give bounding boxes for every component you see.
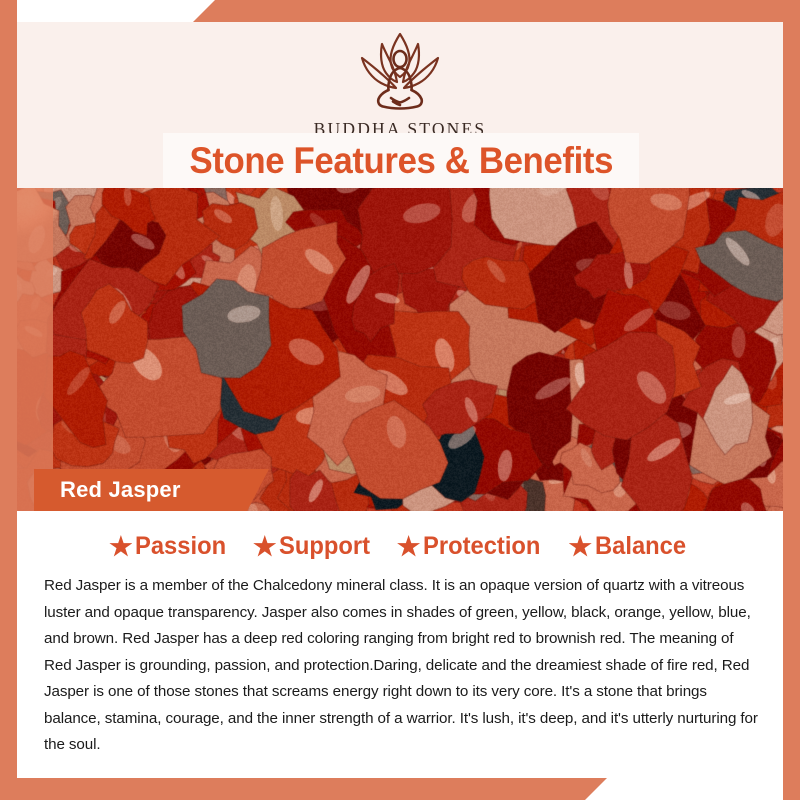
benefit-item-balance: Balance [569, 532, 691, 561]
benefits-row: Passion Support Protection Balance [17, 511, 783, 561]
star-icon [109, 535, 132, 558]
stone-photo [17, 188, 783, 511]
left-border-rail [0, 0, 17, 800]
top-accent-band [0, 0, 800, 22]
description-card: Passion Support Protection Balance Red J… [17, 511, 783, 778]
title-band: Stone Features & Benefits [163, 133, 639, 188]
page-title: Stone Features & Benefits [189, 140, 613, 182]
star-icon [253, 535, 276, 558]
brand-logo-block: BUDDHA STONES [17, 28, 783, 140]
photo-left-overlay [17, 188, 53, 511]
star-icon [397, 535, 420, 558]
inner-panel: BUDDHA STONES Stone Features & Benefits … [17, 22, 783, 778]
stone-photo-canvas [17, 188, 783, 511]
star-icon [569, 535, 592, 558]
benefit-item-protection: Protection [397, 532, 547, 561]
benefit-label: Balance [595, 532, 686, 561]
right-border-rail [783, 0, 800, 800]
stone-description: Red Jasper is a member of the Chalcedony… [44, 573, 758, 759]
benefit-label: Passion [135, 532, 226, 561]
benefit-label: Protection [423, 532, 540, 561]
benefit-label: Support [279, 532, 370, 561]
lotus-meditation-logo-icon [334, 28, 466, 116]
bottom-accent-band [0, 778, 800, 800]
stone-name-banner: Red Jasper [34, 469, 269, 511]
stone-name-label: Red Jasper [60, 477, 181, 503]
infographic-page: BUDDHA STONES Stone Features & Benefits … [0, 0, 800, 800]
benefit-item-support: Support [253, 532, 375, 561]
benefit-item-passion: Passion [109, 532, 231, 561]
header-section: BUDDHA STONES Stone Features & Benefits [17, 22, 783, 188]
